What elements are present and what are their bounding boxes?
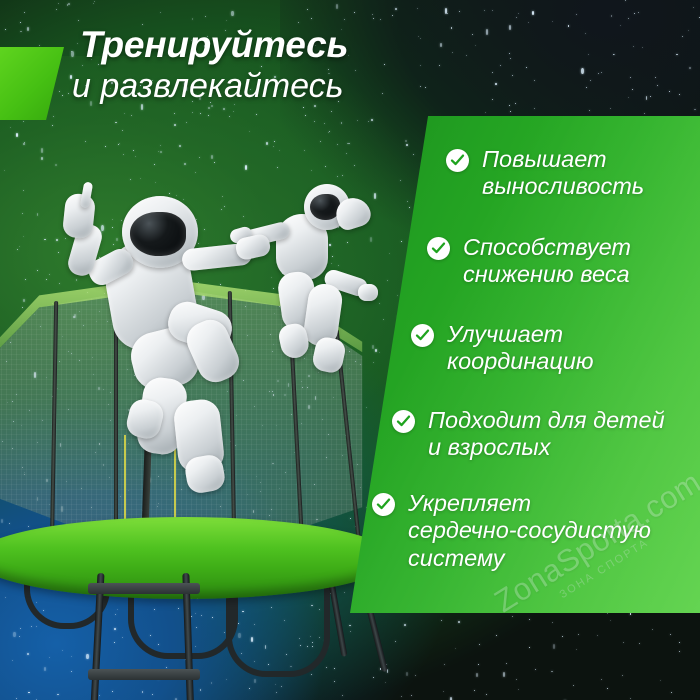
- list-item: Способствует снижению веса: [427, 234, 631, 289]
- list-item-label: Повышает выносливость: [482, 146, 644, 201]
- list-item-label: Улучшает координацию: [447, 321, 594, 376]
- ladder-step: [88, 669, 200, 680]
- astronaut-front: [36, 188, 276, 488]
- check-circle-icon: [411, 324, 434, 347]
- list-item: Укрепляет сердечно-сосудистую систему: [372, 490, 651, 572]
- headline-line-2: и развлекайтесь: [72, 69, 410, 104]
- check-circle-icon: [427, 237, 450, 260]
- list-item-label: Укрепляет сердечно-сосудистую систему: [408, 490, 651, 572]
- check-circle-icon: [446, 149, 469, 172]
- check-circle-icon: [392, 410, 415, 433]
- headline: Тренируйтесь и развлекайтесь: [80, 26, 410, 103]
- astronaut-visor: [130, 212, 186, 256]
- check-circle-icon: [372, 493, 395, 516]
- headline-line-1: Тренируйтесь: [80, 26, 410, 64]
- list-item: Улучшает координацию: [411, 321, 594, 376]
- list-item: Повышает выносливость: [446, 146, 644, 201]
- list-item-label: Подходит для детей и взрослых: [428, 407, 665, 462]
- list-item: Подходит для детей и взрослых: [392, 407, 665, 462]
- astronaut-hand: [234, 233, 272, 262]
- trampoline-ladder: [86, 573, 202, 700]
- ladder-step: [88, 583, 200, 594]
- promo-banner: Тренируйтесь и развлекайтесь Повышает вы…: [0, 0, 700, 700]
- list-item-label: Способствует снижению веса: [463, 234, 631, 289]
- benefits-list: Повышает выносливость Способствует сниже…: [350, 116, 700, 613]
